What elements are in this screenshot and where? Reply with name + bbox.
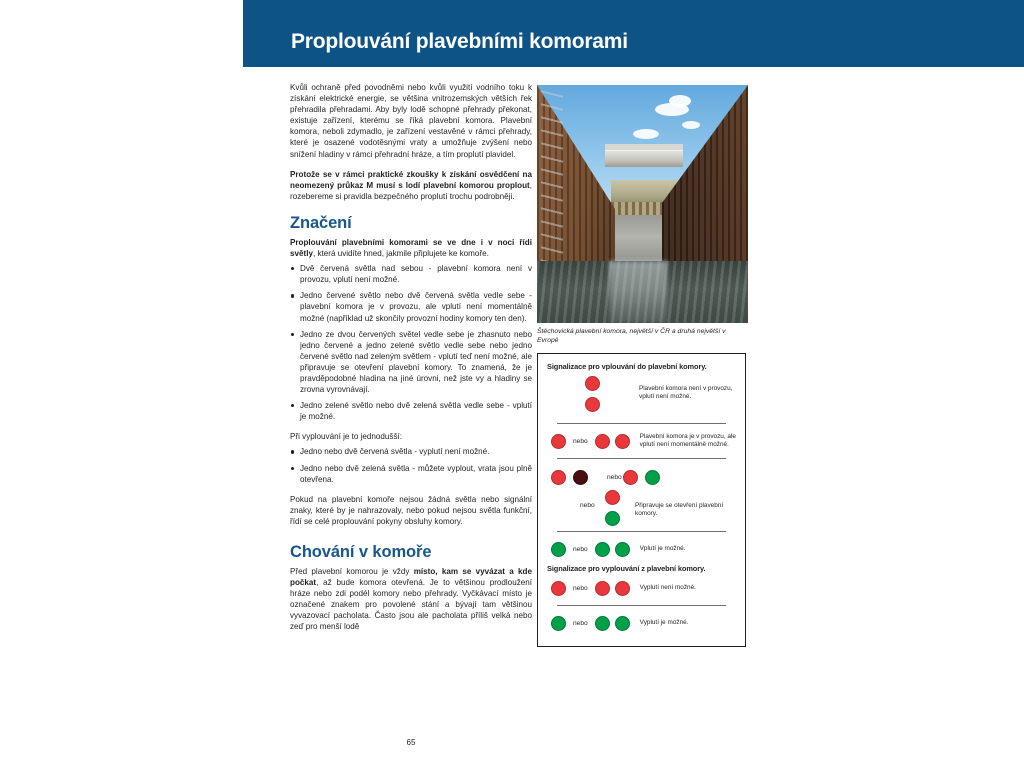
green-lamp-icon <box>615 542 630 557</box>
divider <box>557 458 726 459</box>
signal-row-description: Vyplutí není možné. <box>640 584 738 592</box>
signal-row-description: Plavební komora není v provozu, vplutí n… <box>639 385 743 402</box>
red-lamp-icon <box>551 581 566 596</box>
signal-row-description: Vplutí je možné. <box>640 545 738 553</box>
signal-row-exit-green: nebo Vyplutí je možné. <box>543 613 740 633</box>
page-title: Proplouvání plavebními komorami <box>291 30 628 54</box>
znaceni-lead-rest: , která uvidíte hned, jakmile připlujete… <box>313 249 489 258</box>
list-item: Jedno ze dvou červených světel vedle seb… <box>290 329 532 396</box>
stechovice-lock-photo <box>537 85 748 323</box>
signal-row-description: Vyplutí je možné. <box>640 619 738 627</box>
red-lamp-icon <box>615 434 630 449</box>
green-lamp-icon <box>551 542 566 557</box>
divider <box>557 531 726 532</box>
red-lamp-icon <box>585 397 600 412</box>
divider <box>557 423 726 424</box>
nebo-label: nebo <box>573 546 588 553</box>
lamp-group-single <box>551 616 566 631</box>
lamp-group-single <box>551 542 566 557</box>
signal-row-description: Plavební komora je v provozu, ale vplutí… <box>640 433 738 450</box>
nebo-label: nebo <box>607 474 622 481</box>
lamp-group-red-green <box>623 470 660 485</box>
green-lamp-icon <box>605 511 620 526</box>
signal-row-preparing: nebo nebo Připravuje se otevření plavebn… <box>543 466 740 524</box>
signal-row-two-red-stacked: Plavební komora není v provozu, vplutí n… <box>543 376 740 416</box>
nebo-label: nebo <box>580 502 595 509</box>
lamp-group-stacked <box>585 376 600 418</box>
extinguished-lamp-icon <box>573 470 588 485</box>
nebo-label: nebo <box>573 438 588 445</box>
znaceni-lead: Proplouvání plavebními komorami se ve dn… <box>290 237 532 259</box>
red-lamp-icon <box>595 581 610 596</box>
no-lights-paragraph: Pokud na plavební komoře nejsou žádná sv… <box>290 494 532 527</box>
lamp-group-red-over-green <box>605 490 620 532</box>
photo-bridge <box>605 150 683 167</box>
green-lamp-icon <box>551 616 566 631</box>
chovani-start: Před plavební komorou je vždy <box>290 567 414 576</box>
cloud-icon <box>669 95 691 107</box>
intro-paragraph: Kvůli ochraně před povodněmi nebo kvůli … <box>290 82 532 160</box>
chovani-paragraph: Před plavební komorou je vždy místo, kam… <box>290 566 532 633</box>
red-lamp-icon <box>585 376 600 391</box>
lamp-group-single <box>551 581 566 596</box>
signal-row-one-or-two-green: nebo Vplutí je možné. <box>543 539 740 559</box>
list-item: Jedno zelené světlo nebo dvě zelená svět… <box>290 400 532 422</box>
article-text-column: Kvůli ochraně před povodněmi nebo kvůli … <box>290 82 532 642</box>
lamp-group-pair <box>595 542 630 557</box>
red-lamp-icon <box>595 434 610 449</box>
lamp-group-single <box>551 434 566 449</box>
signal-diagram-title-exit: Signalizace pro vyplouvání z plavební ko… <box>547 564 740 573</box>
red-lamp-icon <box>551 434 566 449</box>
page-canvas: Proplouvání plavebními komorami Kvůli oc… <box>0 0 1024 768</box>
list-item: Jedno červené světlo nebo dvě červená sv… <box>290 290 532 323</box>
red-lamp-icon <box>615 581 630 596</box>
signal-row-exit-red: nebo Vyplutí není možné. <box>543 578 740 598</box>
photo-water-reflection <box>609 261 667 323</box>
cloud-icon <box>633 129 659 139</box>
bullet-list-exit: Jedno nebo dvě červená světla - vyplutí … <box>290 446 532 484</box>
bullet-list-entry: Dvě červená světla nad sebou - plavební … <box>290 263 532 422</box>
lamp-group-pair <box>595 434 630 449</box>
page-header-bar: Proplouvání plavebními komorami <box>243 0 1024 67</box>
divider <box>557 605 726 606</box>
signal-diagram-title-entry: Signalizace pro vplouvání do plavební ko… <box>547 362 740 371</box>
photo-caption: Štěchovická plavební komora, největší v … <box>537 327 742 345</box>
red-lamp-icon <box>623 470 638 485</box>
lamp-group-red-extinguished <box>551 470 588 485</box>
list-item: Jedno nebo dvě zelená světla - můžete vy… <box>290 463 532 485</box>
chovani-rest: , až bude komora otevřená. Je to většino… <box>290 578 532 631</box>
right-column: Štěchovická plavební komora, největší v … <box>537 85 748 647</box>
green-lamp-icon <box>595 542 610 557</box>
vyplouvani-lead: Při vyplouvání je to jednodušší: <box>290 431 532 442</box>
green-lamp-icon <box>615 616 630 631</box>
page-number: 65 <box>290 738 532 747</box>
section-heading-znaceni: Značení <box>290 214 532 232</box>
lamp-group-pair <box>595 616 630 631</box>
signal-row-description: Připravuje se otevření plavební komory. <box>635 502 747 519</box>
intro2-bold: Protože se v rámci praktické zkoušky k z… <box>290 170 532 190</box>
signal-row-one-or-two-red: nebo Plavební komora je v provozu, ale v… <box>543 431 740 451</box>
nebo-label: nebo <box>573 585 588 592</box>
red-lamp-icon <box>605 490 620 505</box>
green-lamp-icon <box>645 470 660 485</box>
green-lamp-icon <box>595 616 610 631</box>
red-lamp-icon <box>551 470 566 485</box>
cloud-icon <box>682 121 700 129</box>
list-item: Jedno nebo dvě červená světla - vyplutí … <box>290 446 532 457</box>
lamp-group-pair <box>595 581 630 596</box>
list-item: Dvě červená světla nad sebou - plavební … <box>290 263 532 285</box>
nebo-label: nebo <box>573 620 588 627</box>
intro-paragraph-2: Protože se v rámci praktické zkoušky k z… <box>290 169 532 202</box>
signal-diagram: Signalizace pro vplouvání do plavební ko… <box>537 353 746 647</box>
section-heading-chovani: Chování v komoře <box>290 543 532 561</box>
